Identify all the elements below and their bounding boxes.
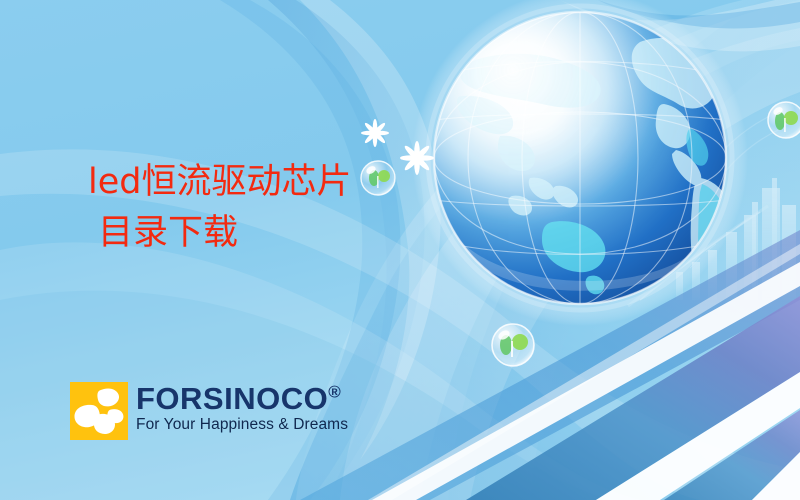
- headline-line-2: 目录下载: [98, 213, 351, 254]
- brand-logo[interactable]: FORSINOCO® For Your Happiness & Dreams: [70, 382, 348, 440]
- brand-tagline: For Your Happiness & Dreams: [136, 416, 348, 434]
- logo-text-block: FORSINOCO® For Your Happiness & Dreams: [136, 382, 348, 434]
- four-petal-pinwheel-icon: [70, 382, 128, 440]
- registered-mark: ®: [328, 383, 341, 402]
- logo-mark: [70, 382, 128, 440]
- banner-canvas: led恒流驱动芯片 目录下载 FORSINOCO® For Your Happ: [0, 0, 800, 500]
- brand-name: FORSINOCO®: [136, 383, 348, 415]
- globe-icon: [412, 0, 748, 326]
- brand-word: FORSINOCO: [136, 381, 328, 416]
- headline-line-1: led恒流驱动芯片: [88, 162, 351, 203]
- headline: led恒流驱动芯片 目录下载: [88, 162, 351, 255]
